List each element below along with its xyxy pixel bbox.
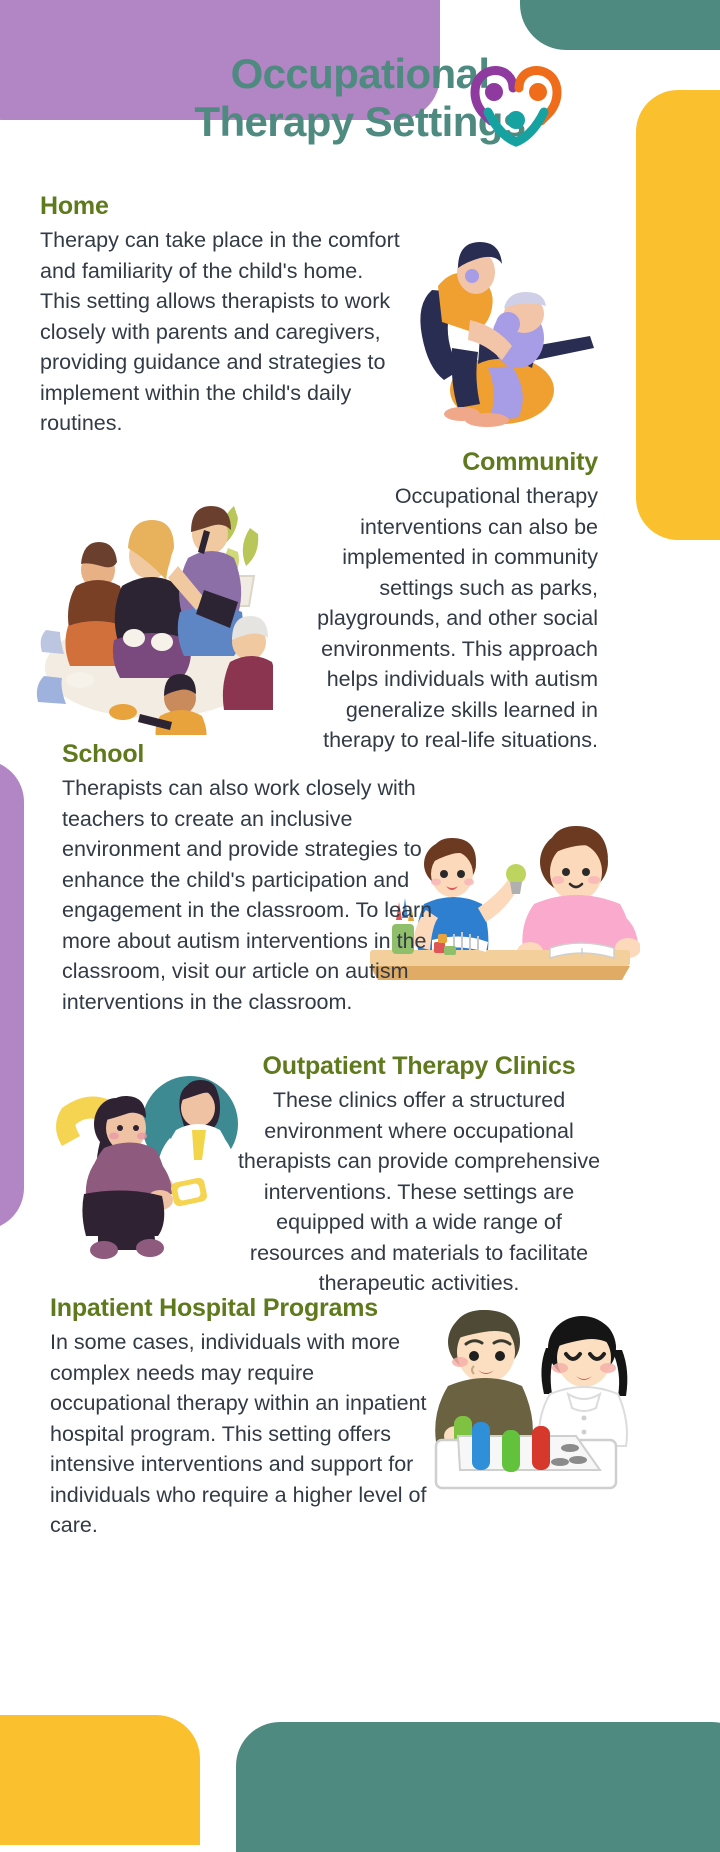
community-group-illustration: [28, 470, 273, 735]
section-inpatient-title: Inpatient Hospital Programs: [50, 1294, 430, 1323]
section-home-body: Therapy can take place in the comfort an…: [40, 225, 400, 439]
section-outpatient-title: Outpatient Therapy Clinics: [236, 1052, 602, 1081]
outpatient-clinic-illustration: [52, 1072, 267, 1262]
section-outpatient: Outpatient Therapy Clinics These clinics…: [236, 1052, 602, 1299]
section-community: Community Occupational therapy intervent…: [278, 448, 598, 756]
heart-people-logo-icon: [466, 62, 566, 148]
section-community-body: Occupational therapy interventions can a…: [278, 481, 598, 756]
home-therapy-illustration: [384, 228, 599, 428]
section-outpatient-body: These clinics offer a structured environ…: [236, 1085, 602, 1299]
inpatient-hospital-illustration: [418, 1308, 633, 1498]
section-inpatient-body: In some cases, individuals with more com…: [50, 1327, 430, 1541]
decor-shape-top-right-green: [520, 0, 720, 50]
section-home: Home Therapy can take place in the comfo…: [40, 192, 400, 439]
decor-shape-bottom-yellow: [0, 1715, 200, 1845]
decor-shape-bottom-green: [236, 1722, 720, 1852]
section-school: School Therapists can also work closely …: [62, 740, 442, 1017]
decor-shape-right-yellow: [636, 90, 720, 540]
section-inpatient: Inpatient Hospital Programs In some case…: [50, 1294, 430, 1541]
section-school-body: Therapists can also work closely with te…: [62, 773, 442, 1017]
page-header: Occupational Therapy Settings: [0, 50, 720, 147]
decor-shape-left-purple: [0, 760, 24, 1230]
section-school-title: School: [62, 740, 442, 769]
section-community-title: Community: [278, 448, 598, 477]
section-home-title: Home: [40, 192, 400, 221]
